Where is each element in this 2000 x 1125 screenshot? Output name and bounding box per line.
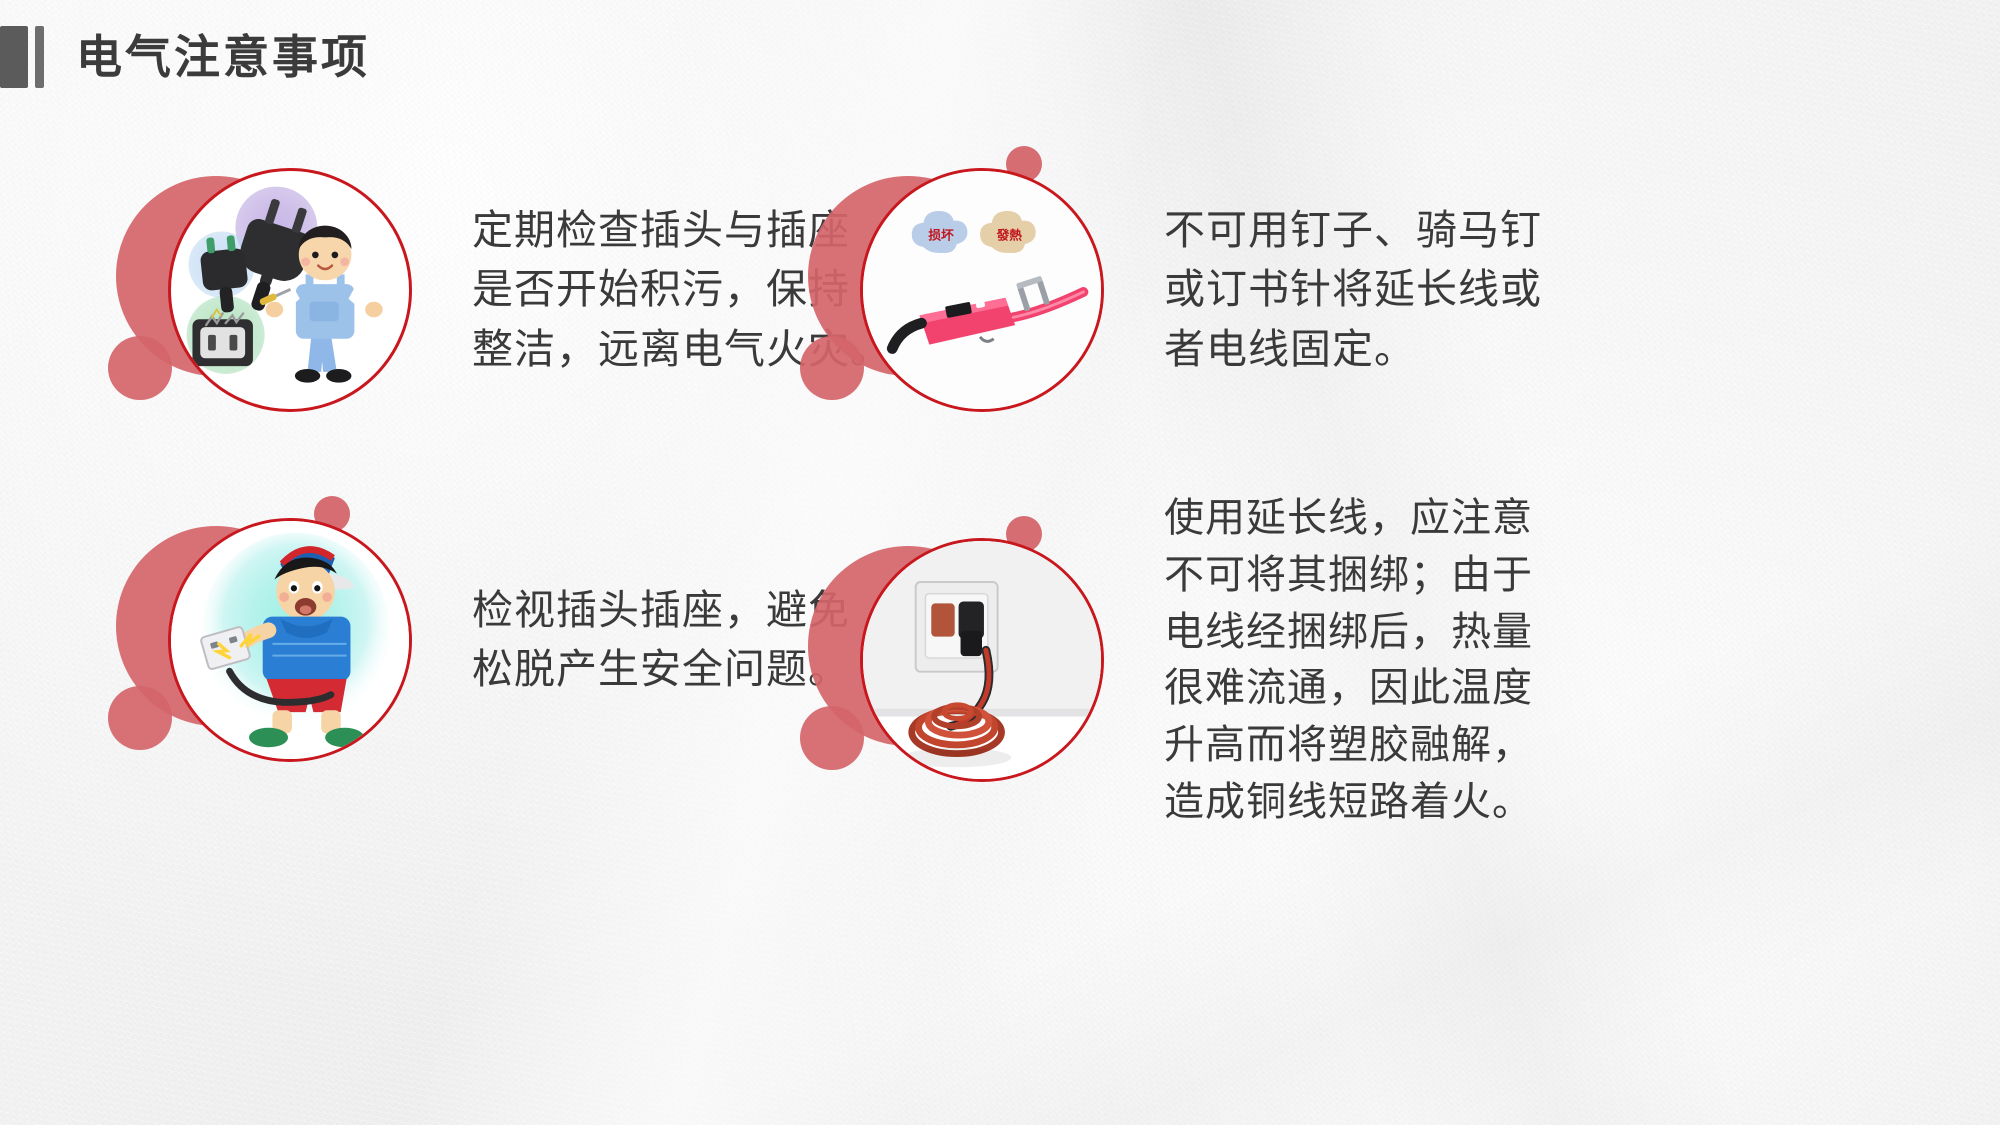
coiled-extension-cord-illustration [860,538,1104,782]
tip-item-2: 损坏 發熱 [800,140,1542,440]
accent-bar-thick [0,26,28,88]
decor-blob-medium [108,336,172,400]
page-header: 电气注意事项 [0,26,370,88]
tip-4-text: 使用延长线，应注意 不可将其捆绑；由于 电线经捆绑后，热量 很难流通，因此温度 … [1164,490,1533,831]
title-accent-bars [0,26,44,88]
tip-item-1: 定期检查插头与插座 是否开始积污，保持 整洁，远离电气火灾。 [108,140,892,440]
tip-3-text: 检视插头插座，避免 松脱产生安全问题。 [472,581,850,700]
tips-grid: 定期检查插头与插座 是否开始积污，保持 整洁，远离电气火灾。 损坏 發熱 [0,0,2000,1125]
tip-item-4: 使用延长线，应注意 不可将其捆绑；由于 电线经捆绑后，热量 很难流通，因此温度 … [800,490,1533,831]
tip-4-medallion [800,510,1130,810]
svg-text:發熱: 發熱 [996,227,1023,242]
decor-blob-medium [108,686,172,750]
accent-bar-thin [35,26,44,88]
nailed-extension-cord-illustration: 损坏 發熱 [860,168,1104,412]
tip-1-medallion [108,140,438,440]
decor-blob-medium [800,336,864,400]
decor-blob-medium [800,706,864,770]
svg-text:损坏: 损坏 [928,227,954,242]
tip-3-medallion [108,490,438,790]
loose-plug-shock-illustration [168,518,412,762]
tip-2-text: 不可用钉子、骑马钉 或订书针将延长线或 者电线固定。 [1164,201,1542,379]
page-title: 电气注意事项 [76,34,370,80]
plug-and-socket-inspection-illustration [168,168,412,412]
tip-2-medallion: 损坏 發熱 [800,140,1130,440]
tip-item-3: 检视插头插座，避免 松脱产生安全问题。 [108,490,850,790]
